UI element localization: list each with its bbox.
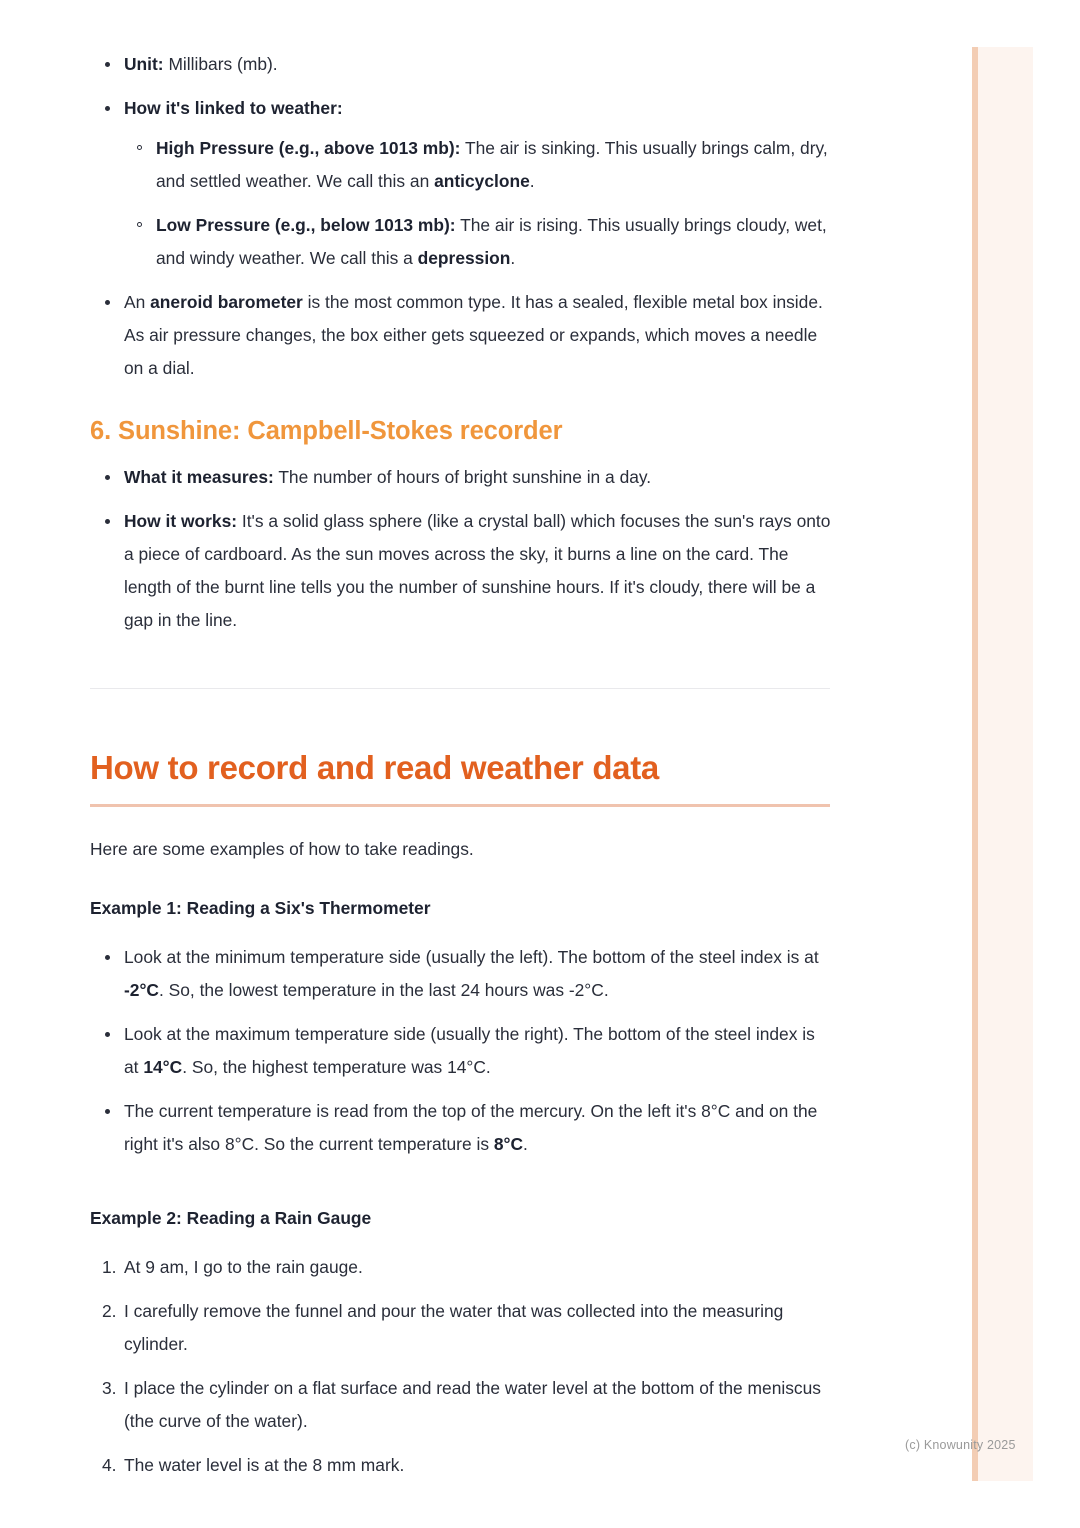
pressure-bullet-list: Unit: Millibars (mb). How it's linked to… xyxy=(90,48,832,385)
list-item: High Pressure (e.g., above 1013 mb): The… xyxy=(124,132,832,198)
example-2-step-list: At 9 am, I go to the rain gauge. I caref… xyxy=(90,1251,832,1482)
sunshine-bullet-list: What it measures: The number of hours of… xyxy=(90,461,832,637)
list-item: How it works: It's a solid glass sphere … xyxy=(90,505,832,637)
bullet-body-text: Millibars (mb). xyxy=(164,54,278,74)
sub-bullet-lead-label: Low Pressure (e.g., below 1013 mb): xyxy=(156,215,456,235)
list-item: Unit: Millibars (mb). xyxy=(90,48,832,81)
bullet-lead-label: How it's linked to weather: xyxy=(124,98,343,118)
list-item: The current temperature is read from the… xyxy=(90,1095,832,1161)
bullet-lead-label: What it measures: xyxy=(124,467,274,487)
list-item: Low Pressure (e.g., below 1013 mb): The … xyxy=(124,209,832,275)
copyright-watermark: (c) Knowunity 2025 xyxy=(905,1438,1016,1452)
example-2-heading: Example 2: Reading a Rain Gauge xyxy=(90,1202,832,1235)
right-accent-line xyxy=(972,47,978,1481)
sub-bullet-emphasis-term: anticyclone xyxy=(434,171,530,191)
example-1-list: Look at the minimum temperature side (us… xyxy=(90,941,832,1161)
bullet-body-text: . So, the highest temperature was 14°C. xyxy=(182,1057,491,1077)
list-item: An aneroid barometer is the most common … xyxy=(90,286,832,385)
example-1-heading: Example 1: Reading a Six's Thermometer xyxy=(90,892,832,925)
document-content: Unit: Millibars (mb). How it's linked to… xyxy=(90,0,832,1493)
list-item: I place the cylinder on a flat surface a… xyxy=(90,1372,832,1438)
bullet-body-text: . So, the lowest temperature in the last… xyxy=(159,980,609,1000)
list-item: How it's linked to weather: High Pressur… xyxy=(90,92,832,275)
bullet-prefix-text: An xyxy=(124,292,150,312)
bullet-value-emphasis: 8°C xyxy=(494,1134,523,1154)
page-title: How to record and read weather data xyxy=(90,746,832,790)
pressure-sub-list: High Pressure (e.g., above 1013 mb): The… xyxy=(124,132,832,275)
bullet-lead-label: How it works: xyxy=(124,511,237,531)
bullet-emphasis-term: aneroid barometer xyxy=(150,292,303,312)
bullet-value-emphasis: 14°C xyxy=(143,1057,182,1077)
bullet-prefix-text: Look at the minimum temperature side (us… xyxy=(124,947,819,967)
bullet-prefix-text: The current temperature is read from the… xyxy=(124,1101,817,1154)
sub-bullet-emphasis-term: depression xyxy=(418,248,511,268)
list-item: The water level is at the 8 mm mark. xyxy=(90,1449,832,1482)
list-item: What it measures: The number of hours of… xyxy=(90,461,832,494)
list-item: I carefully remove the funnel and pour t… xyxy=(90,1295,832,1361)
bullet-value-emphasis: -2°C xyxy=(124,980,159,1000)
list-item: Look at the minimum temperature side (us… xyxy=(90,941,832,1007)
section-heading-sunshine: 6. Sunshine: Campbell-Stokes recorder xyxy=(90,414,832,448)
list-item: At 9 am, I go to the rain gauge. xyxy=(90,1251,832,1284)
bullet-body-text: . xyxy=(523,1134,528,1154)
sub-bullet-lead-label: High Pressure (e.g., above 1013 mb): xyxy=(156,138,460,158)
bullet-lead-label: Unit: xyxy=(124,54,164,74)
list-item: Look at the maximum temperature side (us… xyxy=(90,1018,832,1084)
right-accent-panel xyxy=(972,47,1033,1481)
sub-bullet-tail-text: . xyxy=(510,248,515,268)
sub-bullet-tail-text: . xyxy=(530,171,535,191)
intro-paragraph: Here are some examples of how to take re… xyxy=(90,833,832,866)
bullet-body-text: The number of hours of bright sunshine i… xyxy=(274,467,651,487)
